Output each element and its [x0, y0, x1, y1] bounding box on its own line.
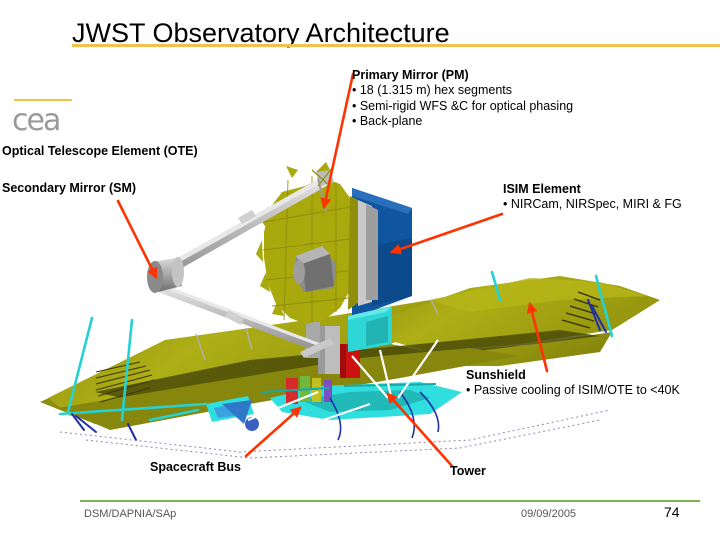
callout-bullet: • 18 (1.315 m) hex segments — [352, 83, 573, 99]
callout-sunshield: Sunshield • Passive cooling of ISIM/OTE … — [466, 368, 680, 399]
callout-heading: Primary Mirror (PM) — [352, 68, 573, 83]
callout-bullet: • NIRCam, NIRSpec, MIRI & FG — [503, 197, 682, 213]
callout-bullet: • Passive cooling of ISIM/OTE to <40K — [466, 383, 680, 399]
label-spacecraft-bus: Spacecraft Bus — [150, 460, 241, 474]
footer-date: 09/09/2005 — [521, 508, 576, 520]
label-tower: Tower — [450, 464, 486, 478]
footer-page-number: 74 — [664, 504, 680, 520]
footer-divider — [80, 500, 700, 502]
label-secondary-mirror: Secondary Mirror (SM) — [2, 181, 136, 195]
callout-heading: Sunshield — [466, 368, 680, 383]
footer-organization: DSM/DAPNIA/SAp — [84, 508, 176, 520]
slide-root: JWST Observatory Architecture cea — [0, 0, 720, 540]
arrow-spacecraft-bus — [246, 408, 300, 456]
arrow-secondary-mirror — [118, 201, 156, 277]
callout-bullet: • Semi-rigid WFS &C for optical phasing — [352, 99, 573, 115]
callout-primary-mirror: Primary Mirror (PM) • 18 (1.315 m) hex s… — [352, 68, 573, 130]
callout-bullet: • Back-plane — [352, 114, 573, 130]
label-optical-telescope-element: Optical Telescope Element (OTE) — [2, 144, 198, 158]
callout-isim-element: ISIM Element • NIRCam, NIRSpec, MIRI & F… — [503, 182, 682, 213]
callout-heading: ISIM Element — [503, 182, 682, 197]
